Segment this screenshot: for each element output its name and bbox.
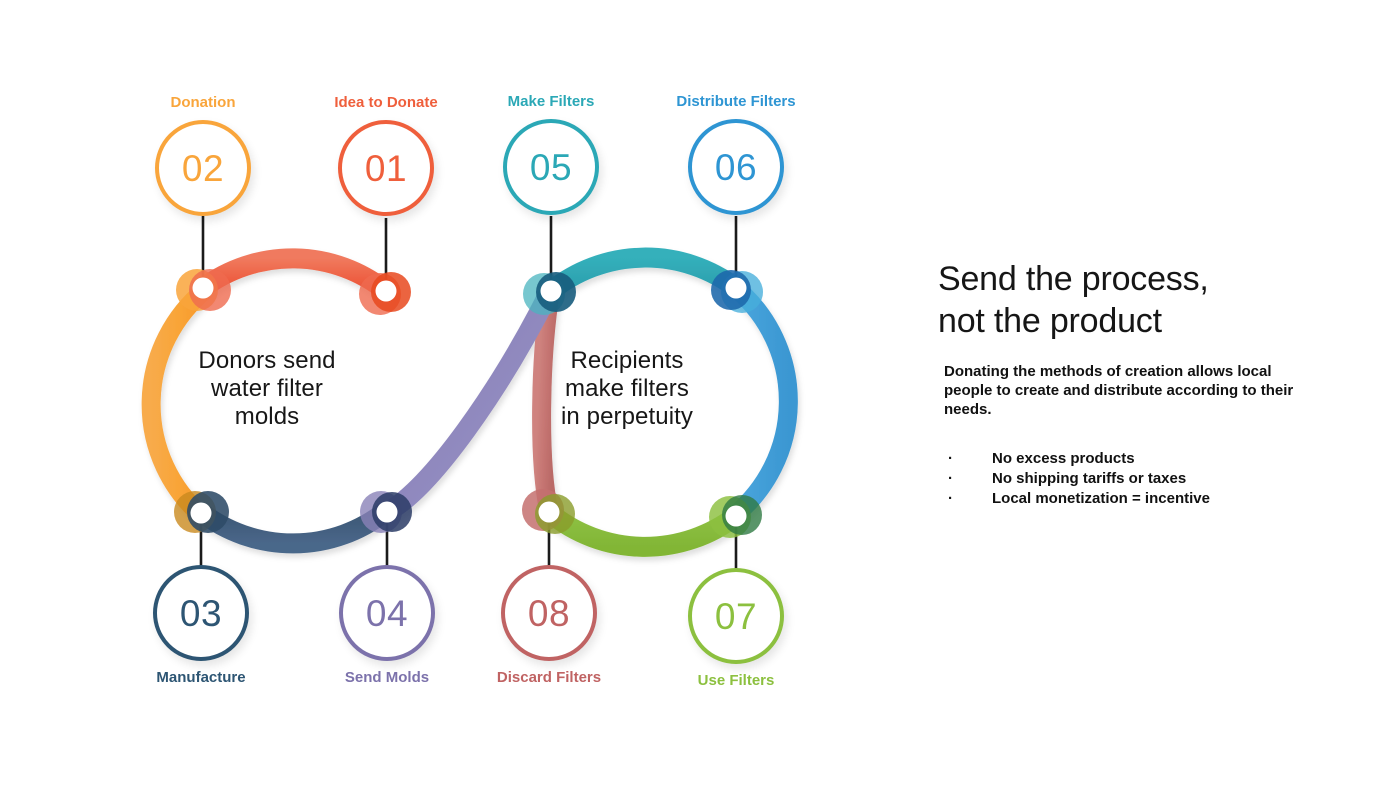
hub-07 [709,495,762,538]
list-item: · No shipping tariffs or taxes [944,469,1338,489]
list-item-label: Local monetization = incentive [992,490,1210,507]
page-title: Send the process, not the product [938,258,1338,342]
text-column: Send the process, not the product Donati… [938,258,1338,509]
step-bubble-08[interactable]: 08 [501,565,597,661]
step-number-08: 08 [528,595,570,632]
slide-canvas: Donors send water filter molds Recipient… [0,0,1400,788]
step-label-06: Distribute Filters [636,93,836,110]
list-item: · No excess products [944,449,1338,469]
bullet-dot-icon: · [948,449,953,469]
bullet-dot-icon: · [948,469,953,489]
step-number-07: 07 [715,598,757,635]
step-node-06[interactable]: Distribute Filters 06 [661,119,811,269]
step-bubble-01[interactable]: 01 [338,120,434,216]
step-node-01[interactable]: Idea to Donate 01 [311,120,461,270]
hub-05 [523,272,576,315]
step-label-07: Use Filters [636,672,836,689]
infinity-loop-infographic: Donors send water filter molds Recipient… [70,60,870,720]
step-label-03: Manufacture [101,669,301,686]
step-bubble-06[interactable]: 06 [688,119,784,215]
list-item-label: No shipping tariffs or taxes [992,470,1186,487]
hub-03 [174,491,229,533]
benefits-list: · No excess products · No shipping tarif… [944,449,1338,509]
list-item: · Local monetization = incentive [944,489,1338,509]
step-label-05: Make Filters [451,93,651,110]
step-number-06: 06 [715,149,757,186]
hub-08 [522,489,575,534]
hub-02 [176,269,231,311]
step-bubble-07[interactable]: 07 [688,568,784,664]
ribbon-blue-arc [735,290,788,515]
ribbon-green-arc [550,513,736,547]
step-node-03[interactable]: 03 Manufacture [126,565,276,715]
step-bubble-03[interactable]: 03 [153,565,249,661]
hub-01 [359,272,411,315]
bullet-dot-icon: · [948,489,953,509]
step-node-02[interactable]: Donation 02 [128,120,278,270]
step-node-04[interactable]: 04 Send Molds [312,565,462,715]
step-number-02: 02 [182,150,224,187]
step-bubble-04[interactable]: 04 [339,565,435,661]
hub-04 [360,491,412,533]
step-number-04: 04 [366,595,408,632]
step-number-01: 01 [365,150,407,187]
step-number-05: 05 [530,149,572,186]
step-bubble-02[interactable]: 02 [155,120,251,216]
list-item-label: No excess products [992,450,1135,467]
loop-caption-right: Recipients make filters in perpetuity [522,347,732,431]
step-label-08: Discard Filters [449,669,649,686]
step-label-02: Donation [103,94,303,111]
step-bubble-05[interactable]: 05 [503,119,599,215]
ribbon-steel-blue-arc [201,511,386,543]
step-number-03: 03 [180,595,222,632]
loop-caption-left: Donors send water filter molds [162,347,372,431]
hub-06 [711,270,763,313]
step-node-08[interactable]: 08 Discard Filters [474,565,624,715]
step-node-07[interactable]: 07 Use Filters [661,568,811,718]
body-paragraph: Donating the methods of creation allows … [944,362,1322,419]
step-node-05[interactable]: Make Filters 05 [476,119,626,269]
